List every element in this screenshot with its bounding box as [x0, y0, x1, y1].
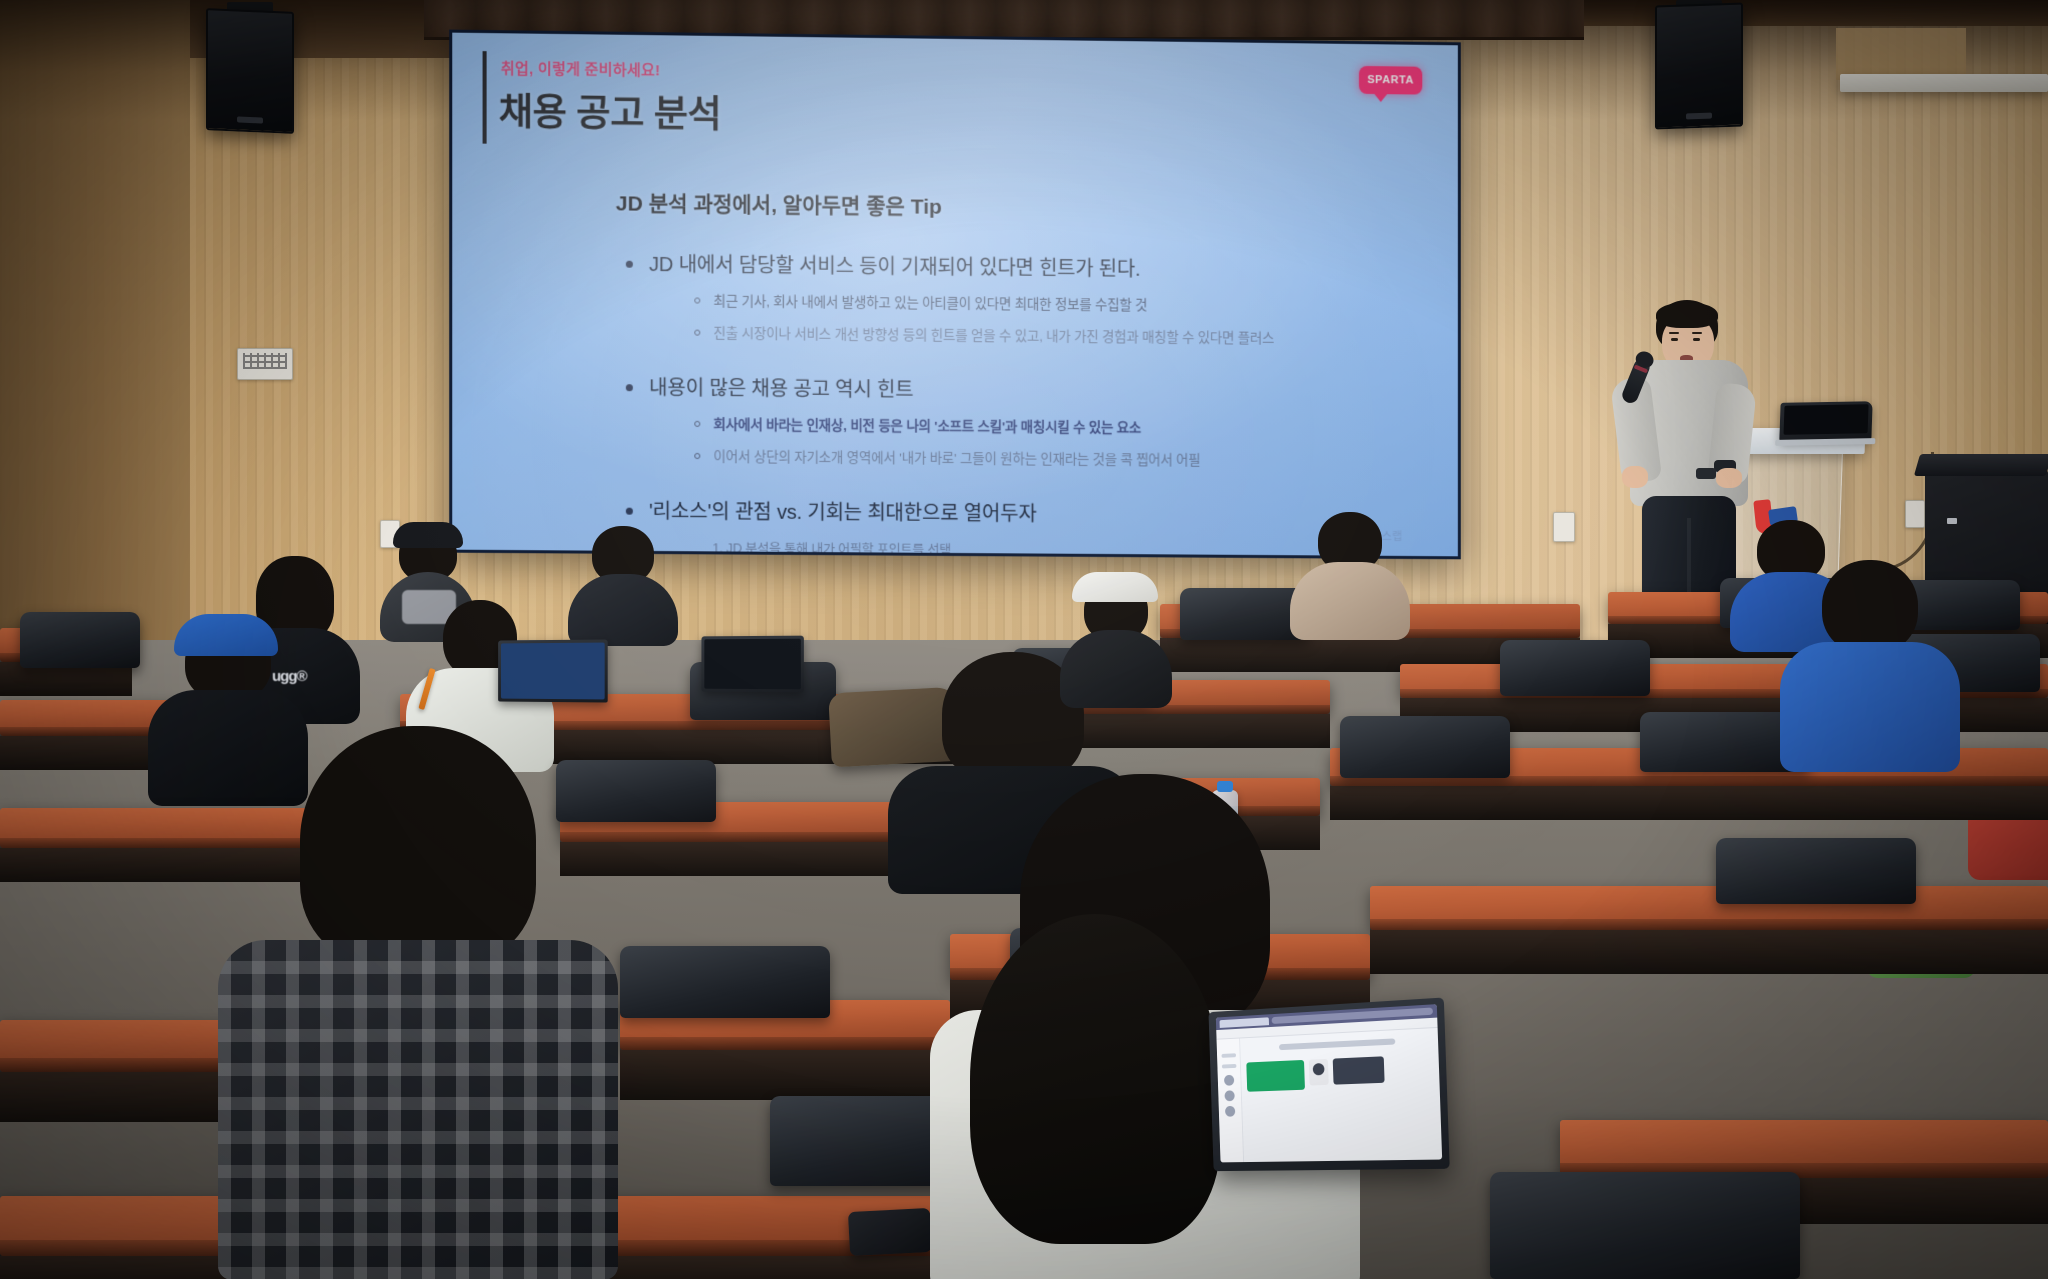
presentation-slide: 취업, 이렇게 준비하세요! 채용 공고 분석 SPARTA JD 분석 과정에…	[452, 33, 1458, 557]
chair-row2-c	[1500, 640, 1650, 696]
baseball-cap-icon	[393, 522, 463, 548]
sub-bullet-ring-icon	[694, 421, 700, 427]
slide-bullet-2: 내용이 많은 채용 공고 역시 힌트	[626, 371, 1411, 407]
student-laptop-a	[498, 639, 608, 702]
sub-bullet-ring-icon	[694, 330, 700, 336]
student-torso	[1780, 642, 1960, 772]
blue-baseball-cap-icon	[174, 614, 278, 656]
whiteboard-edge	[1840, 74, 2048, 92]
student-torso	[568, 574, 678, 646]
student-beige	[1290, 512, 1410, 634]
laptop-screen	[1216, 1004, 1442, 1162]
slide-subbullet-1-2-text: 진출 시장이나 서비스 개선 방향성 등의 힌트를 얻을 수 있고, 내가 가진…	[713, 322, 1274, 347]
slide-subbullet-1-1-text: 최근 기사, 회사 내에서 발생하고 있는 아티클이 있다면 최대한 정보를 수…	[713, 290, 1147, 314]
slide-bullet-1-text: JD 내에서 담당할 서비스 등이 기재되어 있다면 힌트가 된다.	[649, 248, 1140, 282]
student-hair-drape	[970, 914, 1220, 1244]
chair-row5-a	[1490, 1172, 1800, 1279]
sidebar-item[interactable]	[1221, 1064, 1236, 1069]
green-card[interactable]	[1246, 1060, 1305, 1092]
chair-row4-c	[1716, 838, 1916, 904]
page-heading-placeholder	[1279, 1038, 1394, 1050]
presenter-clicker	[1696, 468, 1716, 479]
chair-row1-a	[20, 612, 140, 668]
presenter-hair-fringe	[1656, 302, 1718, 328]
presenter-hand-right	[1716, 468, 1742, 488]
slide-body: JD 내에서 담당할 서비스 등이 기재되어 있다면 힌트가 된다. 최근 기사…	[626, 244, 1411, 557]
slide-block-2: 내용이 많은 채용 공고 역시 힌트 회사에서 바라는 인재상, 비전 등은 나…	[626, 371, 1411, 470]
slide-block-1: JD 내에서 담당할 서비스 등이 기재되어 있다면 힌트가 된다. 최근 기사…	[626, 248, 1411, 348]
card-row	[1246, 1054, 1433, 1092]
slide-subbullet-2-2: 이어서 상단의 자기소개 영역에서 '내가 바로' 그들이 원하는 인재라는 것…	[694, 445, 1410, 471]
wall-recess-right	[1836, 28, 1966, 80]
student-white-cap	[1060, 572, 1172, 700]
sidebar-avatar-icon[interactable]	[1224, 1075, 1234, 1086]
slide-title: 채용 공고 분석	[499, 81, 722, 138]
sidebar-avatar-icon[interactable]	[1225, 1106, 1235, 1117]
wall-control-panel[interactable]	[237, 348, 293, 380]
slide-subbullet-2-1: 회사에서 바라는 인재상, 비전 등은 나의 '소프트 스킬'과 매칭시킬 수 …	[694, 413, 1410, 439]
chair-row3-b	[1340, 716, 1510, 778]
app-main-panel	[1240, 1028, 1442, 1162]
wall-speaker-right-icon	[1655, 2, 1743, 129]
bullet-dot-icon	[626, 261, 633, 268]
desk-row4-d	[1370, 886, 2048, 930]
title-accent-bar	[483, 51, 487, 144]
slide-bullet-3-text: '리소스'의 관점 vs. 기회는 최대한으로 열어두자	[649, 495, 1036, 527]
chair-row4-a	[620, 946, 830, 1018]
student-plaid-shirt	[218, 940, 618, 1279]
student-torso	[1060, 630, 1172, 708]
slide-bullet-1: JD 내에서 담당할 서비스 등이 기재되어 있다면 힌트가 된다.	[626, 248, 1411, 285]
presenter-hand-left	[1622, 466, 1648, 488]
slide-subbullet-1-2: 진출 시장이나 서비스 개선 방향성 등의 힌트를 얻을 수 있고, 내가 가진…	[694, 322, 1410, 349]
browser-tab[interactable]	[1219, 1017, 1269, 1028]
slide-subbullet-2-1-text: 회사에서 바라는 인재상, 비전 등은 나의 '소프트 스킬'과 매칭시킬 수 …	[713, 417, 1141, 435]
student-head	[300, 726, 536, 966]
sub-bullet-ring-icon	[694, 297, 700, 303]
browser-content	[1217, 1028, 1443, 1162]
sidebar-avatar-icon[interactable]	[1225, 1090, 1235, 1101]
slide-subbullet-1-1: 최근 기사, 회사 내에서 발생하고 있는 아티클이 있다면 최대한 정보를 수…	[694, 289, 1410, 316]
sub-bullet-ring-icon	[694, 453, 700, 459]
slide-subtitle: JD 분석 과정에서, 알아두면 좋은 Tip	[616, 187, 942, 221]
avatar-card	[1309, 1059, 1329, 1086]
student-navy-a	[568, 526, 678, 640]
lecture-hall-photo: 취업, 이렇게 준비하세요! 채용 공고 분석 SPARTA JD 분석 과정에…	[0, 0, 2048, 1279]
desk-row5-b	[1560, 1120, 2048, 1178]
dark-card[interactable]	[1333, 1056, 1385, 1084]
wall-speaker-left-icon	[206, 8, 294, 134]
foreground-laptop	[1209, 997, 1450, 1171]
wall-outlet-a	[1553, 512, 1575, 542]
slide-bullet-2-text: 내용이 많은 채용 공고 역시 힌트	[649, 371, 913, 402]
smartphone-on-desk	[848, 1208, 932, 1256]
sparta-logo-label: SPARTA	[1367, 74, 1414, 87]
slide-eyebrow: 취업, 이렇게 준비하세요!	[501, 57, 661, 80]
student-head	[1822, 560, 1918, 654]
student-laptop-b	[701, 636, 803, 693]
podium-laptop	[1779, 401, 1872, 441]
white-baseball-cap-icon	[1072, 572, 1158, 602]
student-blue-hoodie	[1780, 560, 1960, 770]
student-foreground-plaid	[218, 726, 618, 1279]
student-torso	[1290, 562, 1410, 640]
sidebar-item[interactable]	[1221, 1053, 1236, 1058]
sparta-logo-icon: SPARTA	[1359, 66, 1422, 95]
bullet-dot-icon	[626, 508, 633, 515]
projection-screen: 취업, 이렇게 준비하세요! 채용 공고 분석 SPARTA JD 분석 과정에…	[449, 30, 1461, 560]
bullet-dot-icon	[626, 384, 633, 391]
slide-subbullet-2-2-text: 이어서 상단의 자기소개 영역에서 '내가 바로' 그들이 원하는 인재라는 것…	[713, 445, 1200, 469]
